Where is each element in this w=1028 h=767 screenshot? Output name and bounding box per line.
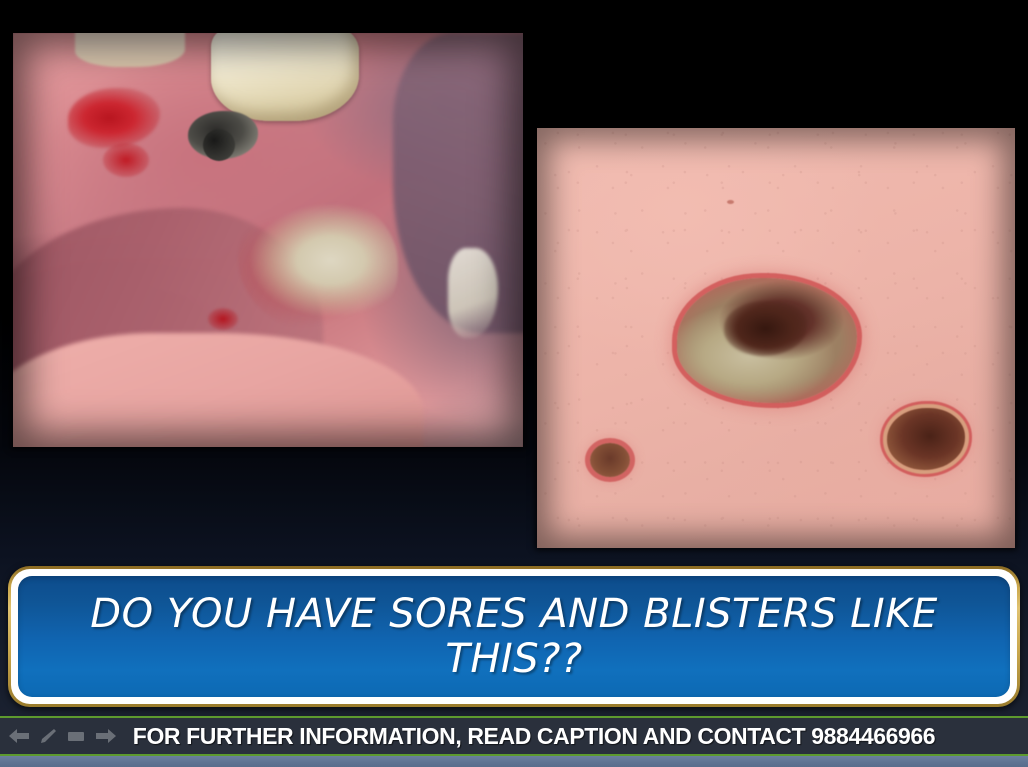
photo-vignette [13, 33, 523, 447]
banner-white-border: DO YOU HAVE SORES AND BLISTERS LIKE THIS… [11, 569, 1017, 704]
banner-fill: DO YOU HAVE SORES AND BLISTERS LIKE THIS… [18, 576, 1010, 697]
oral-ulcer-photo [13, 33, 523, 447]
photo-vignette [537, 128, 1015, 548]
presentation-slide: DO YOU HAVE SORES AND BLISTERS LIKE THIS… [0, 0, 1028, 767]
caption-bar: FOR FURTHER INFORMATION, READ CAPTION AN… [0, 716, 1028, 756]
skin-lesion-photo [537, 128, 1015, 548]
caption-text: FOR FURTHER INFORMATION, READ CAPTION AN… [0, 723, 1028, 750]
headline-text: DO YOU HAVE SORES AND BLISTERS LIKE THIS… [64, 592, 963, 682]
taskbar-strip[interactable] [0, 756, 1028, 767]
headline-banner: DO YOU HAVE SORES AND BLISTERS LIKE THIS… [8, 566, 1020, 707]
